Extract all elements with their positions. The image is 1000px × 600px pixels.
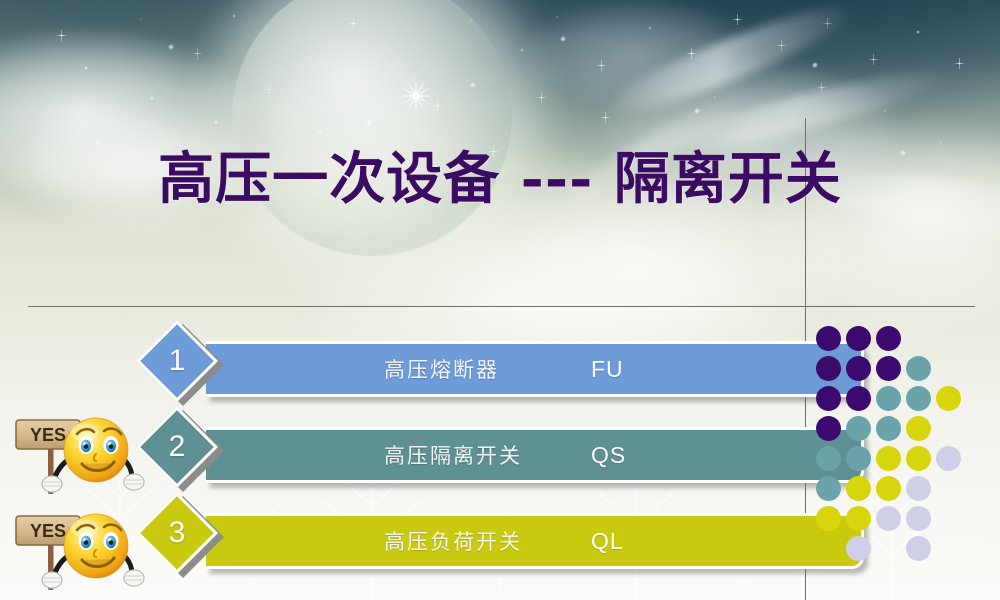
- decor-dot-yellow: [906, 446, 931, 471]
- star-icon: [826, 22, 829, 25]
- list-bar-label: 高压熔断器: [384, 354, 499, 384]
- decor-dot-lavender: [936, 446, 961, 471]
- star-icon: [812, 62, 818, 68]
- star-icon: [268, 88, 271, 91]
- star-icon: [690, 52, 693, 55]
- decor-dot-purple: [876, 326, 901, 351]
- list-bar-code: QL: [591, 528, 624, 555]
- decor-dot-lavender: [906, 536, 931, 561]
- decor-dot-teal: [846, 446, 871, 471]
- smiley-with-sign-icon: YES: [8, 398, 158, 502]
- list-bar-label: 高压负荷开关: [384, 526, 522, 556]
- decor-dot-yellow: [846, 476, 871, 501]
- decor-dot-lavender: [906, 506, 931, 531]
- star-icon: [300, 40, 302, 42]
- list-bar[interactable]: 高压熔断器 FU: [206, 341, 864, 397]
- star-icon: [150, 96, 154, 100]
- decor-dot-teal: [816, 446, 841, 471]
- star-icon: [884, 110, 886, 112]
- yes-smiley-2: YES: [8, 494, 158, 598]
- star-icon: [470, 20, 472, 22]
- star-icon: [84, 66, 88, 70]
- star-icon: [232, 14, 236, 18]
- star-icon: [958, 62, 961, 65]
- star-icon: [604, 116, 607, 119]
- star-icon: [694, 108, 700, 114]
- right-hand: [124, 570, 144, 586]
- star-icon: [648, 26, 652, 30]
- decor-dot-teal: [876, 386, 901, 411]
- decor-dot-teal: [816, 476, 841, 501]
- sign-label: YES: [30, 521, 66, 541]
- list-number: 1: [148, 332, 206, 390]
- star-icon: [168, 44, 174, 50]
- star-icon: [768, 124, 770, 126]
- decor-dot-purple: [816, 326, 841, 351]
- decor-dot-lavender: [876, 506, 901, 531]
- decor-dot-purple: [816, 356, 841, 381]
- decor-dot-purple: [816, 386, 841, 411]
- star-icon: [408, 60, 410, 62]
- slide-title: 高压一次设备 --- 隔离开关: [0, 134, 1000, 215]
- star-icon: [540, 96, 543, 99]
- decor-dot-teal: [906, 356, 931, 381]
- star-icon: [366, 120, 372, 126]
- star-icon: [820, 86, 823, 89]
- decor-dot-lavender: [846, 536, 871, 561]
- decor-dot-yellow: [876, 446, 901, 471]
- star-icon: [872, 58, 875, 61]
- star-icon: [214, 120, 218, 124]
- star-icon: [556, 16, 558, 18]
- star-icon: [736, 18, 739, 21]
- star-icon: [196, 52, 199, 55]
- decor-dot-purple: [846, 386, 871, 411]
- star-icon: [140, 18, 142, 20]
- list-bar[interactable]: 高压隔离开关 QS: [206, 427, 864, 483]
- yes-smiley-1: YES: [8, 398, 158, 502]
- decor-dot-yellow: [906, 416, 931, 441]
- decor-dot-yellow: [876, 476, 901, 501]
- decor-dot-lavender: [906, 476, 931, 501]
- decorative-dot-grid: [816, 326, 994, 576]
- right-hand: [124, 474, 144, 490]
- list-bar[interactable]: 高压负荷开关 QL: [206, 513, 864, 569]
- list-bar-label: 高压隔离开关: [384, 440, 522, 470]
- left-hand: [42, 572, 62, 588]
- horizontal-divider-line: [28, 306, 975, 307]
- star-burst-icon: [398, 78, 434, 114]
- left-hand: [42, 476, 62, 492]
- star-icon: [916, 30, 920, 34]
- decor-dot-purple: [816, 416, 841, 441]
- star-icon: [60, 34, 63, 37]
- star-icon: [436, 104, 439, 107]
- decor-dot-yellow: [816, 506, 841, 531]
- decor-dot-purple: [876, 356, 901, 381]
- presentation-slide: 高压一次设备 --- 隔离开关 高压熔断器 FU 1 高压隔离开关 QS 2: [0, 0, 1000, 600]
- decor-dot-yellow: [936, 386, 961, 411]
- star-icon: [520, 48, 524, 52]
- decor-dot-teal: [906, 386, 931, 411]
- sign-label: YES: [30, 425, 66, 445]
- star-icon: [780, 44, 783, 47]
- list-bar-code: FU: [591, 356, 624, 383]
- decor-dot-yellow: [846, 506, 871, 531]
- list-bar-code: QS: [591, 442, 626, 469]
- decor-dot-purple: [846, 326, 871, 351]
- star-icon: [352, 22, 355, 25]
- decor-dot-purple: [846, 356, 871, 381]
- star-icon: [560, 36, 566, 42]
- star-icon: [600, 64, 603, 67]
- smiley-with-sign-icon: YES: [8, 494, 158, 598]
- decor-dot-teal: [876, 416, 901, 441]
- decor-dot-teal: [846, 416, 871, 441]
- star-icon: [714, 96, 716, 98]
- star-icon: [470, 82, 476, 88]
